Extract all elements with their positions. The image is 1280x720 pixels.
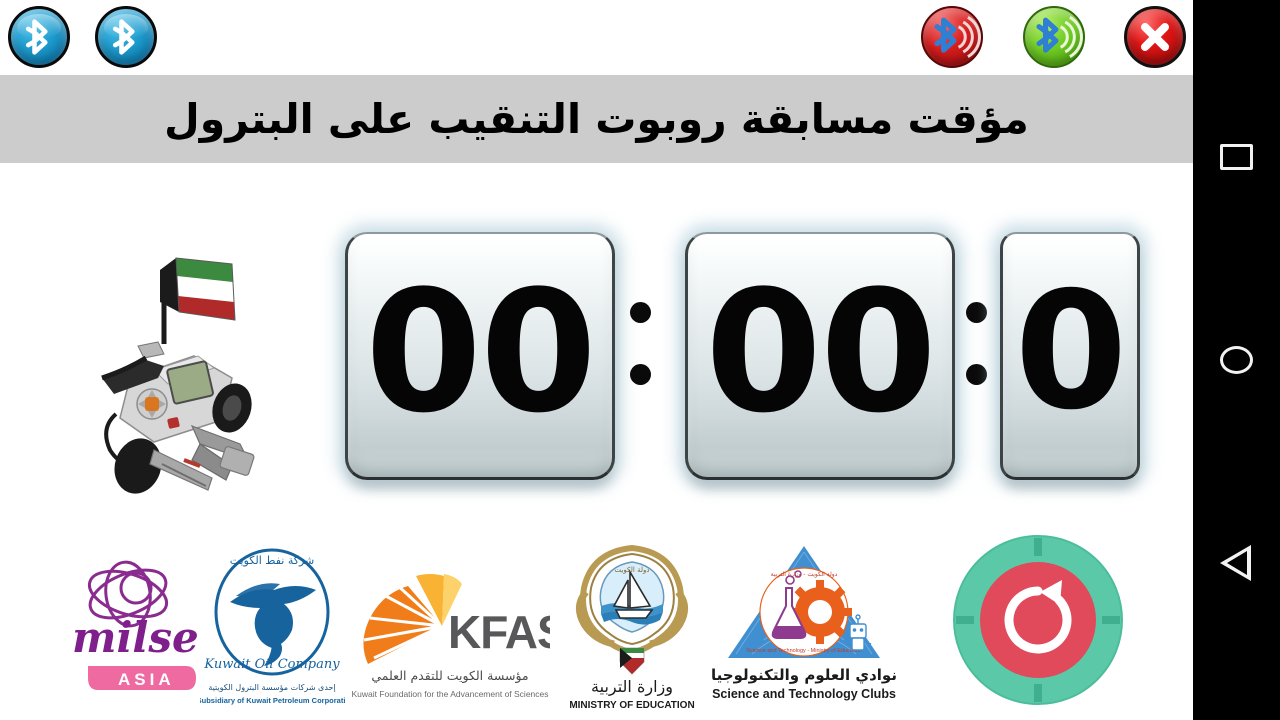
kfas-wordmark: KFAS (448, 606, 550, 658)
sponsor-logo-row: milset ASIA شركة نفط الكويت Kuwait O (40, 540, 900, 715)
robot-photo (72, 228, 284, 496)
timer-seconds-panel[interactable]: 00 (685, 232, 955, 480)
sponsor-logo-science-and-technology-clubs: دولة الكويت - وزارة التربية Science and … (712, 540, 897, 715)
milset-wordmark: milset (72, 613, 200, 662)
bluetooth-connect-1-button[interactable] (8, 6, 70, 68)
koc-arabic-ring: شركة نفط الكويت (230, 554, 315, 567)
circle-icon (1220, 346, 1253, 374)
bluetooth-connect-2-button[interactable] (95, 6, 157, 68)
kuwait-oil-company-mark: شركة نفط الكويت Kuwait Oil Company إحدى … (200, 540, 345, 715)
moe-sub-english: MINISTRY OF EDUCATION (569, 700, 694, 711)
bluetooth-connected-button[interactable] (1023, 6, 1085, 68)
bluetooth-signal-icon (1025, 8, 1083, 66)
koc-sub-arabic: إحدى شركات مؤسسة البترول الكويتية (208, 683, 335, 693)
screen-root: مؤقت مسابقة روبوت التنقيب على البترول (0, 0, 1280, 720)
reset-button[interactable] (952, 534, 1124, 706)
title-bar: مؤقت مسابقة روبوت التنقيب على البترول (0, 75, 1193, 163)
lego-robot-illustration (72, 228, 284, 496)
app-window: مؤقت مسابقة روبوت التنقيب على البترول (0, 0, 1193, 720)
science-technology-clubs-mark: دولة الكويت - وزارة التربية Science and … (712, 540, 897, 715)
koc-sub-english: A Subsidiary of Kuwait Petroleum Corpora… (200, 696, 345, 705)
close-x-icon (1127, 9, 1183, 65)
square-icon (1220, 144, 1253, 170)
kfas-mark: KFAS مؤسسة الكويت للتقدم العلمي Kuwait F… (350, 540, 550, 715)
milset-banner-text: ASIA (118, 670, 175, 689)
nav-home-button[interactable] (1193, 325, 1280, 395)
svg-text:Science and Technology - Minis: Science and Technology - Ministry of Edu… (746, 648, 861, 654)
sponsor-logo-kuwait-oil-company: شركة نفط الكويت Kuwait Oil Company إحدى … (200, 540, 345, 715)
stc-sub-english: Science and Technology Clubs (712, 687, 896, 701)
bluetooth-icon (98, 9, 154, 65)
timer-tenths-panel[interactable]: 0 (1000, 232, 1140, 480)
svg-text:دولة الكويت: دولة الكويت (615, 566, 650, 574)
stc-sub-arabic: نوادي العلوم والتكنولوجيا (712, 666, 897, 685)
ministry-of-education-mark: دولة الكويت وزارة التربية MINISTRY OF ED… (560, 540, 705, 715)
android-navigation-bar (1193, 0, 1280, 720)
timer-minutes-value: 00 (365, 268, 595, 436)
close-app-button[interactable] (1124, 6, 1186, 68)
timer-tenths-value: 0 (1015, 271, 1126, 433)
bluetooth-icon (11, 9, 67, 65)
timer-minutes-panel[interactable]: 00 (345, 232, 615, 480)
countdown-timer: 00 00 0 (335, 232, 1155, 497)
nav-recents-button[interactable] (1193, 122, 1280, 192)
triangle-left-icon (1220, 545, 1254, 581)
sponsor-logo-milset-asia: milset ASIA (60, 540, 200, 715)
milset-asia-mark: milset ASIA (60, 540, 200, 715)
bluetooth-disconnected-button[interactable] (921, 6, 983, 68)
timer-separator-1 (628, 302, 654, 422)
koc-wordmark: Kuwait Oil Company (203, 657, 340, 672)
kfas-sub-arabic: مؤسسة الكويت للتقدم العلمي (371, 668, 528, 684)
svg-text:دولة الكويت - وزارة التربية: دولة الكويت - وزارة التربية (771, 571, 838, 578)
timer-seconds-value: 00 (705, 268, 935, 436)
reset-arrow-icon (952, 534, 1124, 706)
timer-separator-2 (964, 302, 990, 422)
nav-back-button[interactable] (1193, 528, 1280, 598)
bluetooth-signal-icon (923, 8, 981, 66)
top-toolbar (0, 0, 1193, 75)
page-title: مؤقت مسابقة روبوت التنقيب على البترول (164, 95, 1029, 143)
kfas-sub-english: Kuwait Foundation for the Advancement of… (351, 689, 548, 699)
moe-sub-arabic: وزارة التربية (591, 677, 673, 697)
sponsor-logo-ministry-of-education: دولة الكويت وزارة التربية MINISTRY OF ED… (560, 540, 705, 715)
sponsor-logo-kfas: KFAS مؤسسة الكويت للتقدم العلمي Kuwait F… (350, 540, 550, 715)
